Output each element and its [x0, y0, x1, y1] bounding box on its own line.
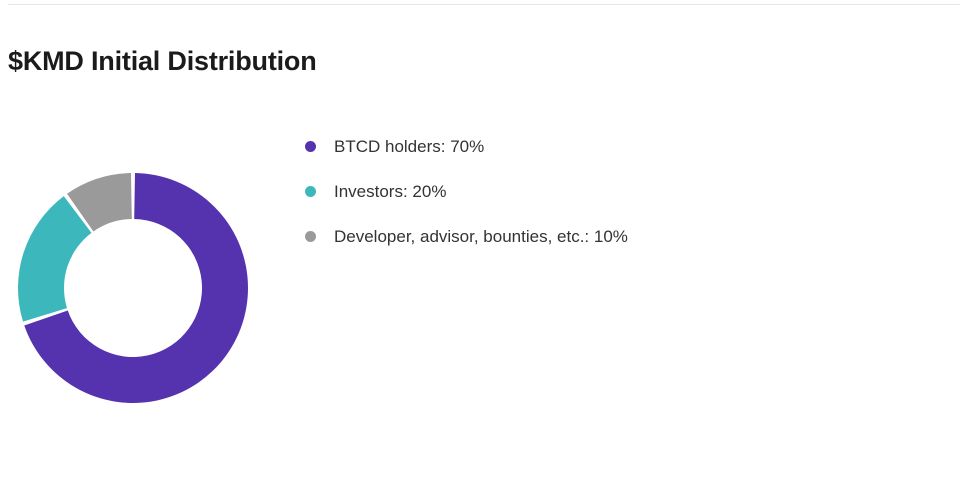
chart-legend: BTCD holders: 70% Investors: 20% Develop…: [305, 124, 905, 259]
legend-item-label: Investors: 20%: [334, 182, 446, 202]
page-title: $KMD Initial Distribution: [8, 44, 317, 78]
legend-item[interactable]: Investors: 20%: [305, 169, 905, 214]
legend-dot-icon: [305, 141, 316, 152]
donut-chart-svg: [18, 173, 248, 403]
legend-item-label: BTCD holders: 70%: [334, 137, 484, 157]
chart-area: BTCD holders: 70% Investors: 20% Develop…: [0, 100, 978, 440]
legend-item[interactable]: BTCD holders: 70%: [305, 124, 905, 169]
donut-slice[interactable]: [18, 196, 91, 321]
legend-item[interactable]: Developer, advisor, bounties, etc.: 10%: [305, 214, 905, 259]
legend-item-label: Developer, advisor, bounties, etc.: 10%: [334, 227, 628, 247]
chart-page: $KMD Initial Distribution BTCD holders: …: [0, 0, 978, 482]
legend-dot-icon: [305, 186, 316, 197]
legend-dot-icon: [305, 231, 316, 242]
donut-chart: [18, 173, 248, 403]
top-divider: [8, 4, 960, 5]
